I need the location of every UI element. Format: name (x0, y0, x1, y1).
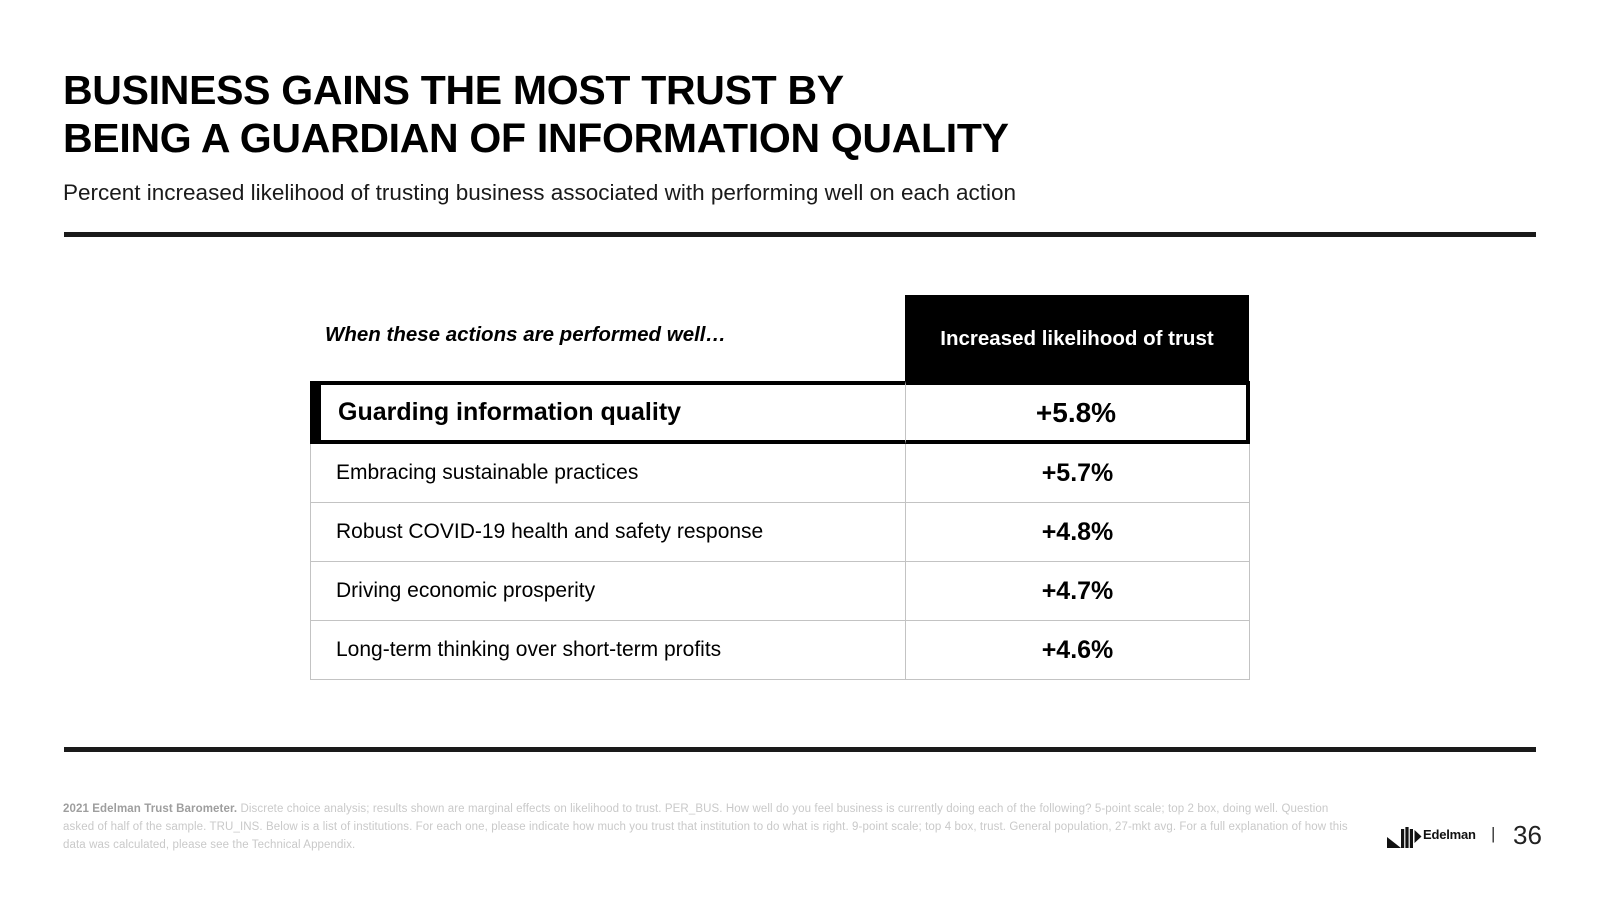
table-cell-action: Robust COVID-19 health and safety respon… (310, 503, 905, 562)
table-row[interactable]: Robust COVID-19 health and safety respon… (310, 503, 1250, 562)
action-label: Guarding information quality (314, 398, 681, 427)
table-body: Guarding information quality +5.8% Embra… (310, 381, 1250, 680)
table-cell-value: +4.6% (905, 621, 1250, 680)
footnote-source: 2021 Edelman Trust Barometer. (63, 803, 237, 815)
action-label: Driving economic prosperity (311, 579, 595, 603)
table-row[interactable]: Embracing sustainable practices +5.7% (310, 444, 1250, 503)
column-header-trust-label: Increased likelihood of trust (905, 327, 1249, 351)
table-row[interactable]: Driving economic prosperity +4.7% (310, 562, 1250, 621)
trust-table: When these actions are performed well… I… (310, 293, 1250, 678)
table-header-row: When these actions are performed well… I… (310, 293, 1250, 381)
footer-separator: | (1491, 824, 1495, 844)
table-cell-action: Embracing sustainable practices (310, 444, 905, 503)
value-label: +5.8% (1036, 397, 1116, 429)
footnote: 2021 Edelman Trust Barometer. Discrete c… (63, 800, 1353, 854)
column-header-trust-band: Increased likelihood of trust (905, 295, 1249, 381)
table-cell-action: Guarding information quality (310, 381, 905, 444)
table-cell-value: +5.8% (905, 381, 1250, 444)
value-label: +4.7% (1042, 577, 1114, 606)
footer-brand: Edelman | 36 (1385, 818, 1585, 858)
table-cell-value: +4.7% (905, 562, 1250, 621)
action-label: Robust COVID-19 health and safety respon… (311, 520, 763, 544)
value-label: +4.8% (1042, 518, 1114, 547)
page-title: BUSINESS GAINS THE MOST TRUST BY BEING A… (63, 66, 1363, 162)
page-subtitle: Percent increased likelihood of trusting… (63, 178, 1363, 208)
table-cell-value: +4.8% (905, 503, 1250, 562)
table-cell-action: Driving economic prosperity (310, 562, 905, 621)
action-label: Long-term thinking over short-term profi… (311, 638, 721, 662)
table-row[interactable]: Guarding information quality +5.8% (310, 381, 1250, 444)
row-highlight-bar (310, 381, 321, 444)
table-row[interactable]: Long-term thinking over short-term profi… (310, 621, 1250, 680)
value-label: +5.7% (1042, 459, 1114, 488)
divider-top (64, 232, 1536, 237)
action-label: Embracing sustainable practices (311, 461, 638, 485)
table-cell-value: +5.7% (905, 444, 1250, 503)
page-number: 36 (1513, 820, 1542, 851)
footnote-body: Discrete choice analysis; results shown … (63, 803, 1348, 851)
edelman-wordmark: Edelman (1423, 827, 1476, 842)
table-cell-action: Long-term thinking over short-term profi… (310, 621, 905, 680)
value-label: +4.6% (1042, 636, 1114, 665)
divider-bottom (64, 747, 1536, 752)
column-header-actions: When these actions are performed well… (325, 323, 900, 347)
